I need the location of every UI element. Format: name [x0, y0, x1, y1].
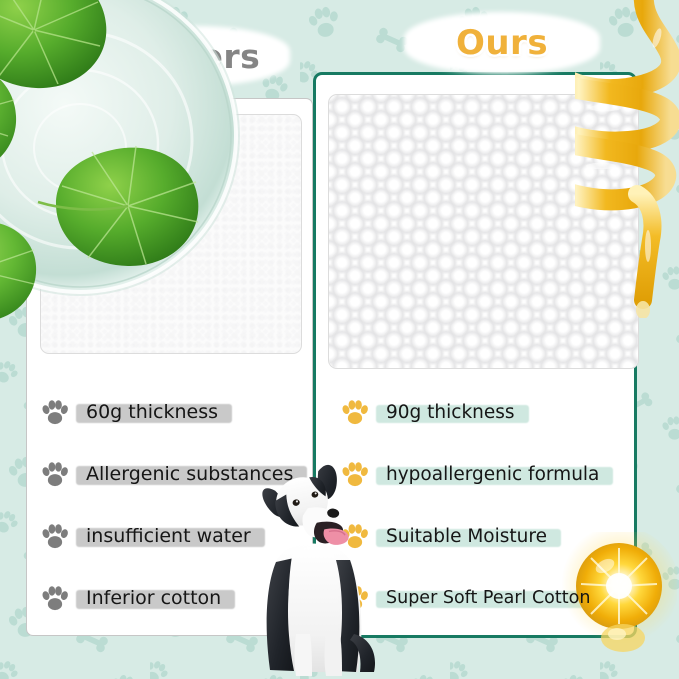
others-title-badge: Others [102, 26, 290, 86]
list-item: Allergenic substances [40, 444, 310, 506]
list-item-label: Super Soft Pearl Cotton [386, 588, 590, 608]
feature-band: 60g thickness [76, 399, 228, 427]
list-item: 90g thickness [340, 382, 632, 444]
list-item-label: Suitable Moisture [386, 526, 547, 547]
feature-band: Super Soft Pearl Cotton [376, 586, 600, 612]
paw-icon [40, 461, 70, 489]
others-wipe-swatch [40, 114, 302, 354]
list-item: insufficient water [40, 506, 310, 568]
paw-icon [340, 523, 370, 551]
list-item-label: insufficient water [86, 525, 251, 547]
list-item-label: Inferior cotton [86, 587, 221, 609]
list-item: Suitable Moisture [340, 506, 632, 568]
list-item: Super Soft Pearl Cotton [340, 568, 632, 630]
list-item-label: 60g thickness [86, 401, 218, 423]
others-feature-list: 60g thickness Allergenic substances [40, 382, 310, 630]
paw-icon [40, 585, 70, 613]
feature-band: Inferior cotton [76, 585, 231, 613]
ours-title-badge: Ours [404, 12, 600, 74]
feature-band: 90g thickness [376, 400, 525, 427]
ours-title: Ours [404, 12, 600, 74]
list-item-label: hypoallergenic formula [386, 464, 599, 485]
paw-icon [340, 585, 370, 613]
paw-icon [340, 461, 370, 489]
embossed-pearl-cotton-texture [329, 95, 638, 368]
feature-band: insufficient water [76, 523, 261, 551]
others-title: Others [102, 26, 290, 86]
paw-icon [40, 399, 70, 427]
ours-feature-list: 90g thickness hypoallergenic formula [340, 382, 632, 630]
paw-icon [40, 523, 70, 551]
feature-band: hypoallergenic formula [376, 462, 609, 489]
plain-cotton-texture [41, 115, 301, 353]
list-item: 60g thickness [40, 382, 310, 444]
list-item: hypoallergenic formula [340, 444, 632, 506]
list-item-label: 90g thickness [386, 402, 515, 423]
comparison-infographic: Others Ours 60g thickness [0, 0, 679, 679]
paw-icon [340, 399, 370, 427]
feature-band: Allergenic substances [76, 461, 303, 489]
list-item: Inferior cotton [40, 568, 310, 630]
ours-wipe-swatch [328, 94, 639, 369]
list-item-label: Allergenic substances [86, 463, 293, 485]
feature-band: Suitable Moisture [376, 524, 557, 551]
